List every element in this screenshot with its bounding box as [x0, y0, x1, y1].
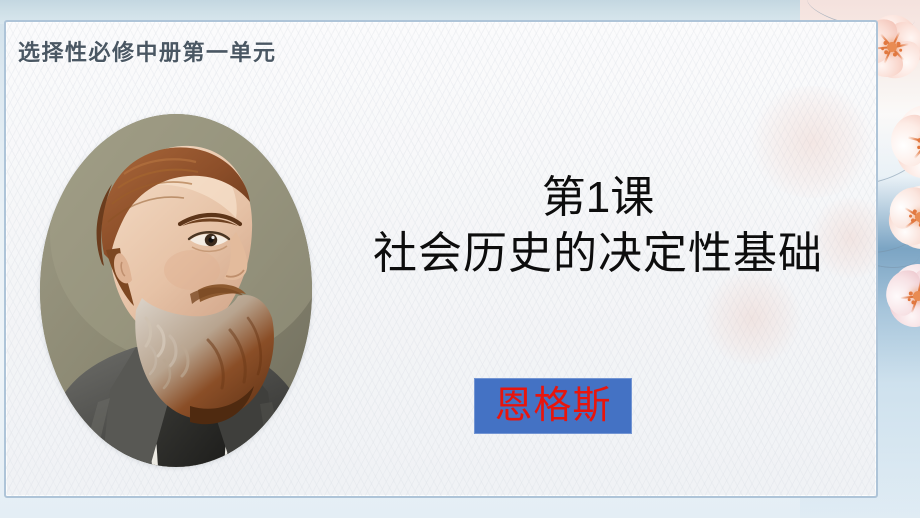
author-badge: 恩格斯	[474, 378, 632, 434]
blossom-watermark	[700, 272, 804, 364]
unit-header-label: 选择性必修中册第一单元	[18, 35, 277, 67]
lesson-number-title: 第1课	[336, 170, 860, 226]
content-panel: 选择性必修中册第一单元	[4, 20, 878, 498]
title-block: 第1课 社会历史的决定性基础	[336, 170, 860, 282]
lesson-name-title: 社会历史的决定性基础	[336, 226, 860, 282]
author-badge-label: 恩格斯	[494, 387, 611, 425]
portrait-illustration	[40, 114, 312, 467]
engels-portrait	[40, 114, 312, 467]
slide-canvas: 选择性必修中册第一单元	[0, 0, 920, 518]
